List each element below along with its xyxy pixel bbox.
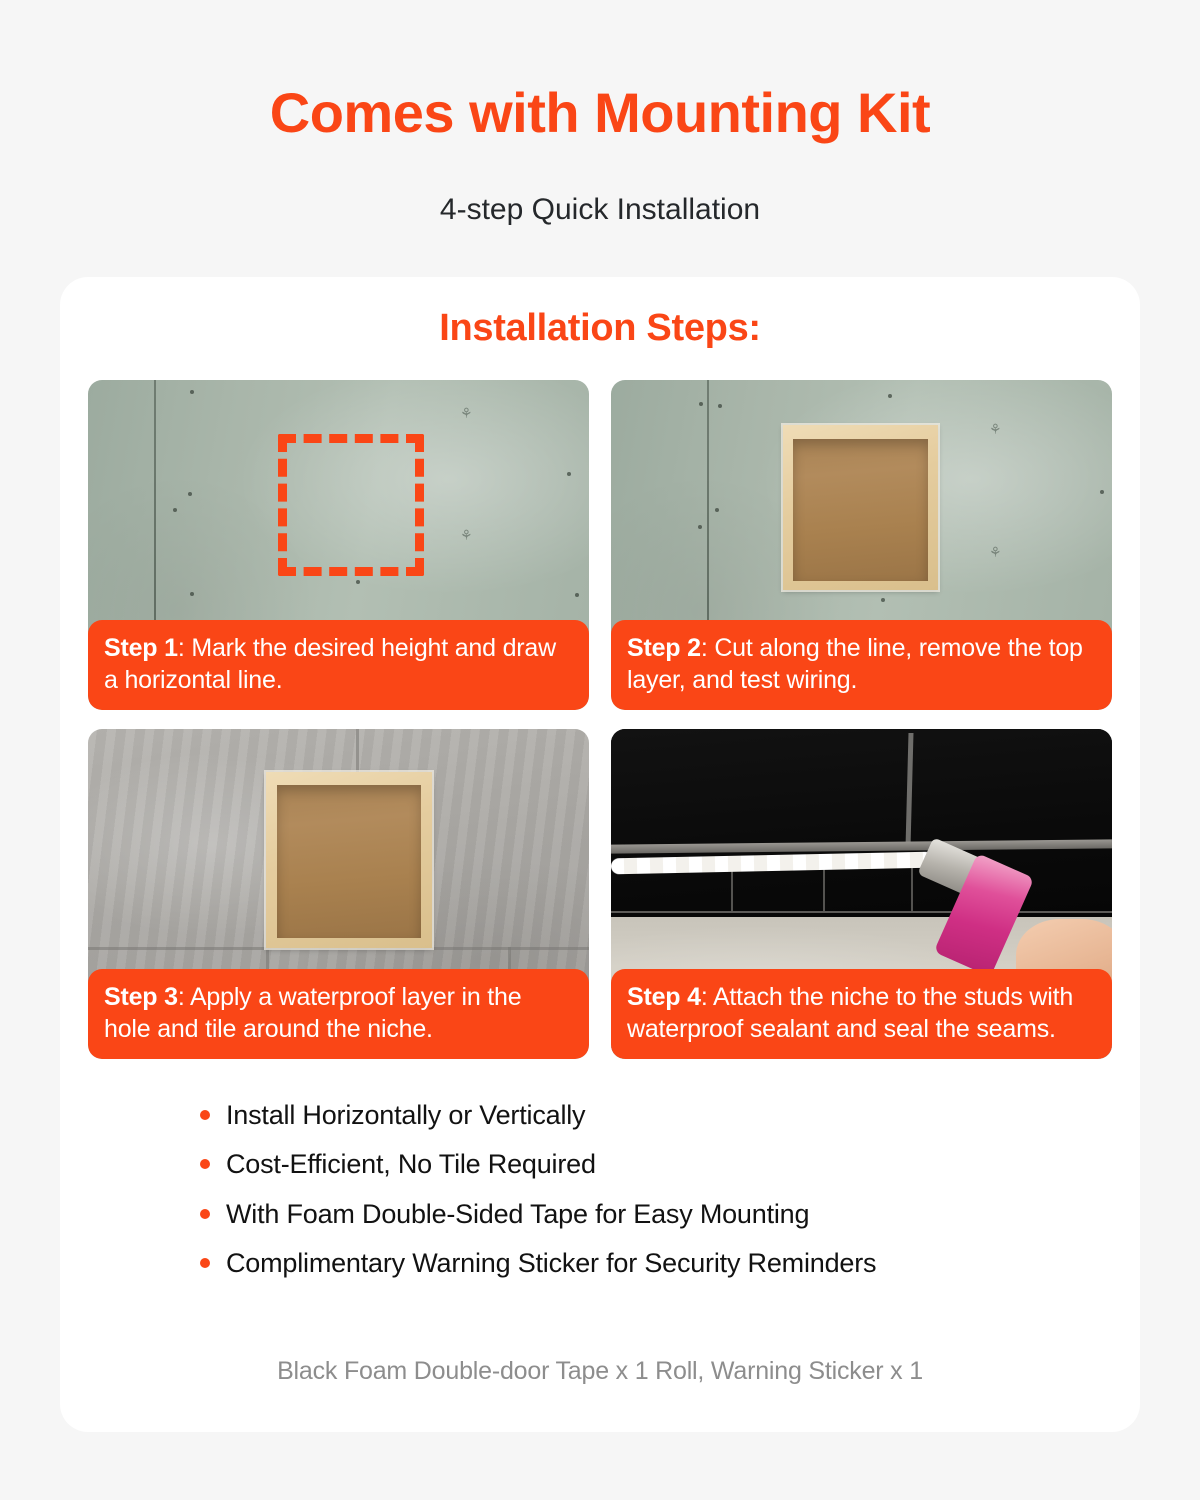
product-infographic-page: Comes with Mounting Kit 4-step Quick Ins… [0, 0, 1200, 1500]
bullet-dot-icon [200, 1159, 210, 1169]
niche-wood-frame [783, 425, 938, 590]
feature-label: With Foam Double-Sided Tape for Easy Mou… [226, 1198, 809, 1230]
list-item: Install Horizontally or Vertically [200, 1099, 1100, 1131]
step-2-label: Step 2 [627, 634, 701, 662]
step-tile-4: Step 4: Attach the niche to the studs wi… [611, 729, 1112, 1059]
step-1-caption: Step 1: Mark the desired height and draw… [88, 620, 589, 710]
installation-card: Installation Steps: ⚘ ⚘ Step 1: Ma [60, 277, 1140, 1432]
step-1-label: Step 1 [104, 634, 178, 662]
step-3-label: Step 3 [104, 983, 178, 1011]
feature-label: Complimentary Warning Sticker for Securi… [226, 1247, 876, 1279]
bullet-dot-icon [200, 1209, 210, 1219]
step-4-separator: : [701, 983, 708, 1011]
feature-label: Cost-Efficient, No Tile Required [226, 1148, 596, 1180]
step-2-separator: : [701, 634, 708, 662]
step-3-caption: Step 3: Apply a waterproof layer in the … [88, 969, 589, 1059]
page-subtitle: 4-step Quick Installation [0, 190, 1200, 229]
feature-list: Install Horizontally or Vertically Cost-… [200, 1099, 1100, 1297]
installation-steps-heading: Installation Steps: [60, 307, 1140, 350]
step-1-separator: : [178, 634, 185, 662]
package-contents-text: Black Foam Double-door Tape x 1 Roll, Wa… [60, 1357, 1140, 1386]
step-tile-3: Step 3: Apply a waterproof layer in the … [88, 729, 589, 1059]
niche-cavity-tiled [277, 785, 421, 938]
bullet-dot-icon [200, 1258, 210, 1268]
step-2-caption: Step 2: Cut along the line, remove the t… [611, 620, 1112, 710]
bullet-dot-icon [200, 1110, 210, 1120]
step-4-label: Step 4 [627, 983, 701, 1011]
feature-label: Install Horizontally or Vertically [226, 1099, 585, 1131]
step-tile-2: ⚘ ⚘ Step 2: Cut along the line, remove t… [611, 380, 1112, 710]
step-tile-1: ⚘ ⚘ Step 1: Mark the desired height and … [88, 380, 589, 710]
niche-wood-frame-tiled [266, 772, 432, 948]
list-item: With Foam Double-Sided Tape for Easy Mou… [200, 1198, 1100, 1230]
step-3-separator: : [178, 983, 185, 1011]
cut-area-dashed-outline [278, 434, 424, 576]
list-item: Cost-Efficient, No Tile Required [200, 1148, 1100, 1180]
niche-interior-dark [611, 729, 1112, 917]
step-4-caption: Step 4: Attach the niche to the studs wi… [611, 969, 1112, 1059]
list-item: Complimentary Warning Sticker for Securi… [200, 1247, 1100, 1279]
steps-grid: ⚘ ⚘ Step 1: Mark the desired height and … [88, 380, 1112, 1059]
page-title: Comes with Mounting Kit [0, 82, 1200, 145]
niche-cavity [793, 439, 928, 581]
